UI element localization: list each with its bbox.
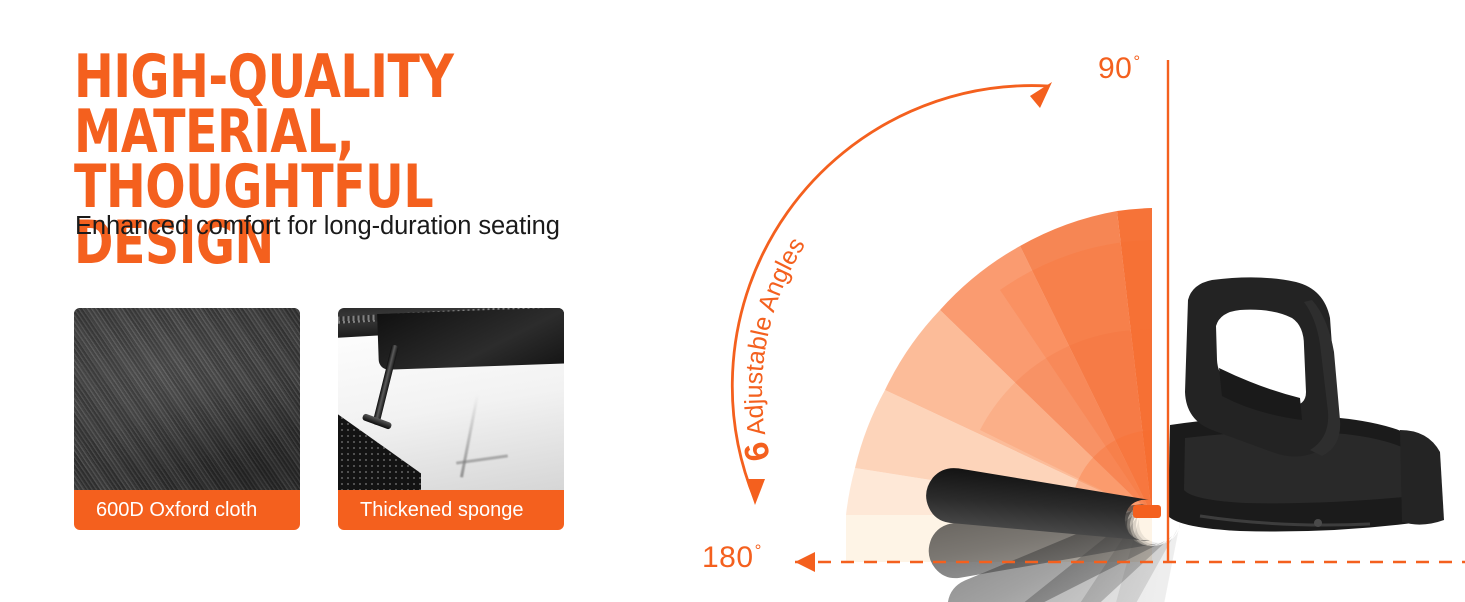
oxford-cloth-photo [74,308,300,490]
sponge-scene [338,308,564,490]
arc-label: 6 Adjustable Angles [737,233,811,465]
recline-angle-diagram: 6 Adjustable Angles 90° 180° [700,0,1465,602]
twill-texture [74,308,300,490]
feature-card-oxford-cloth: 600D Oxford cloth [74,308,300,530]
diagram-canvas: 6 Adjustable Angles [700,0,1465,602]
axis-arrow-180 [795,552,815,572]
arc-label-count: 6 [737,438,778,464]
thickened-sponge-photo [338,308,564,490]
feature-caption: Thickened sponge [338,490,564,530]
fabric-flap [377,308,564,370]
promo-banner: HIGH-QUALITY MATERIAL, THOUGHTFUL DESIGN… [0,0,1465,602]
angle-label-180: 180° [702,541,762,575]
feature-card-thickened-sponge: Thickened sponge [338,308,564,530]
subtitle: Enhanced comfort for long-duration seati… [75,212,560,241]
angle-label-90: 90° [1098,52,1141,86]
arc-label-text: Adjustable Angles [740,233,811,444]
sweep-arrow-head-bottom [746,479,765,505]
feature-caption: 600D Oxford cloth [74,490,300,530]
